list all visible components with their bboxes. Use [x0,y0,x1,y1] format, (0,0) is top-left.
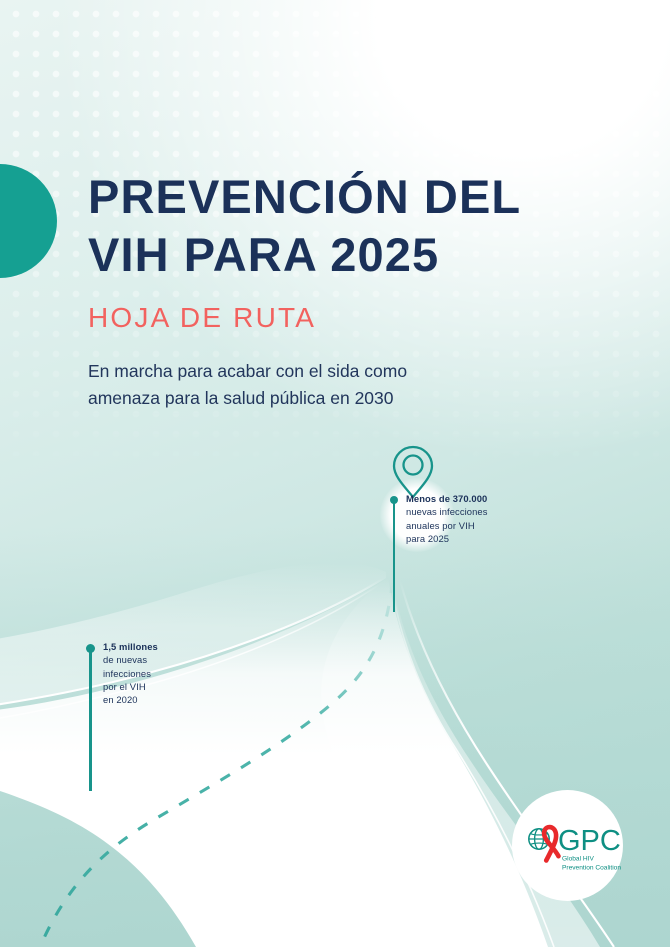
logo-acronym: GPC [558,825,621,857]
logo-name-line-2: Prevention Coalition [562,865,621,872]
document-cover: PREVENCIÓN DEL VIH PARA 2025 HOJA DE RUT… [0,0,670,947]
callout-2025-target: Menos de 370.000 nuevas infecciones anua… [384,444,544,604]
title-block: PREVENCIÓN DEL VIH PARA 2025 HOJA DE RUT… [88,168,588,412]
page-subtitle: HOJA DE RUTA [88,301,588,335]
callout-lead: Menos de 370.000 [406,492,526,505]
callout-text: Menos de 370.000 nuevas infecciones anua… [406,492,526,545]
callout-lead: 1,5 millones [103,640,213,653]
callout-stem [393,500,395,612]
callout-body: nuevas infecciones anuales por VIH para … [406,505,526,545]
page-tagline: En marcha para acabar con el sida como a… [88,358,588,412]
callout-stem [89,649,91,791]
callout-text: 1,5 millones de nuevas infecciones por e… [103,640,213,707]
page-title: PREVENCIÓN DEL VIH PARA 2025 [88,168,588,285]
logo-name-line-1: Global HIV [562,856,594,863]
callout-2020-baseline: 1,5 millones de nuevas infecciones por e… [86,640,216,800]
callout-body: de nuevas infecciones por el VIH en 2020 [103,653,213,706]
gpc-logo: GPC Global HIV Prevention Coalition [512,790,623,901]
gpc-logo-badge: GPC Global HIV Prevention Coalition [512,790,623,901]
